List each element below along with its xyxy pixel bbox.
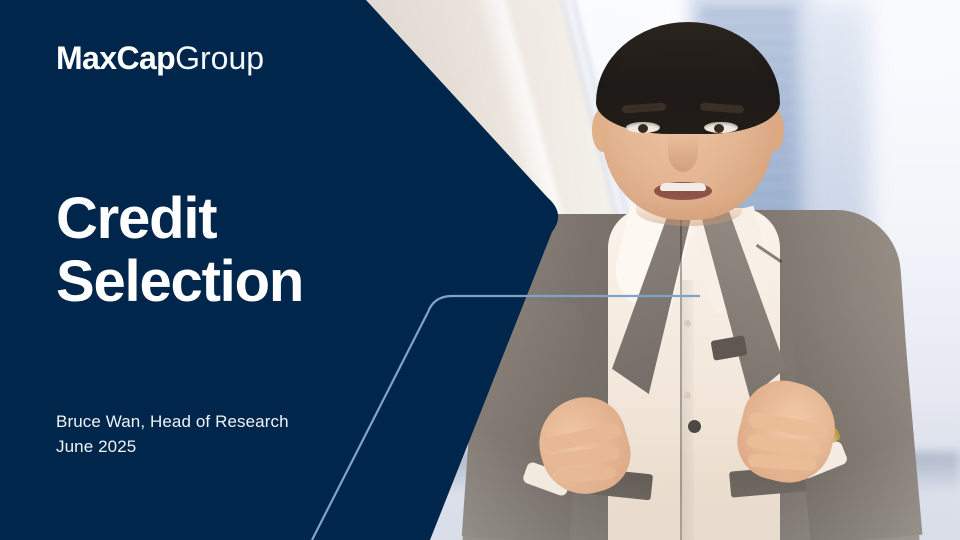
- logo-group: Group: [175, 40, 264, 76]
- byline-name-role: Bruce Wan, Head of Research: [56, 410, 289, 435]
- title-line-2: Selection: [56, 251, 303, 314]
- presenter-byline: Bruce Wan, Head of Research June 2025: [56, 410, 289, 459]
- teeth: [660, 183, 706, 191]
- logo-maxcap: MaxCap: [56, 40, 175, 76]
- chin-shadow: [636, 196, 742, 226]
- shirt-placket: [682, 280, 694, 540]
- slide-text-content: MaxCapGroup Credit Selection Bruce Wan, …: [0, 0, 520, 540]
- title-slide: MaxCapGroup Credit Selection Bruce Wan, …: [0, 0, 960, 540]
- byline-date: June 2025: [56, 435, 289, 460]
- shirt-button-lower: [684, 392, 691, 399]
- shirt-button-upper: [684, 320, 691, 327]
- pupil-right: [714, 124, 724, 133]
- nose: [668, 132, 698, 172]
- page-title: Credit Selection: [56, 188, 303, 313]
- pupil-left: [638, 124, 648, 133]
- maxcap-group-logo: MaxCapGroup: [56, 42, 264, 74]
- jacket-center-seam: [680, 214, 682, 540]
- jacket-button: [688, 420, 701, 433]
- title-line-1: Credit: [56, 188, 303, 251]
